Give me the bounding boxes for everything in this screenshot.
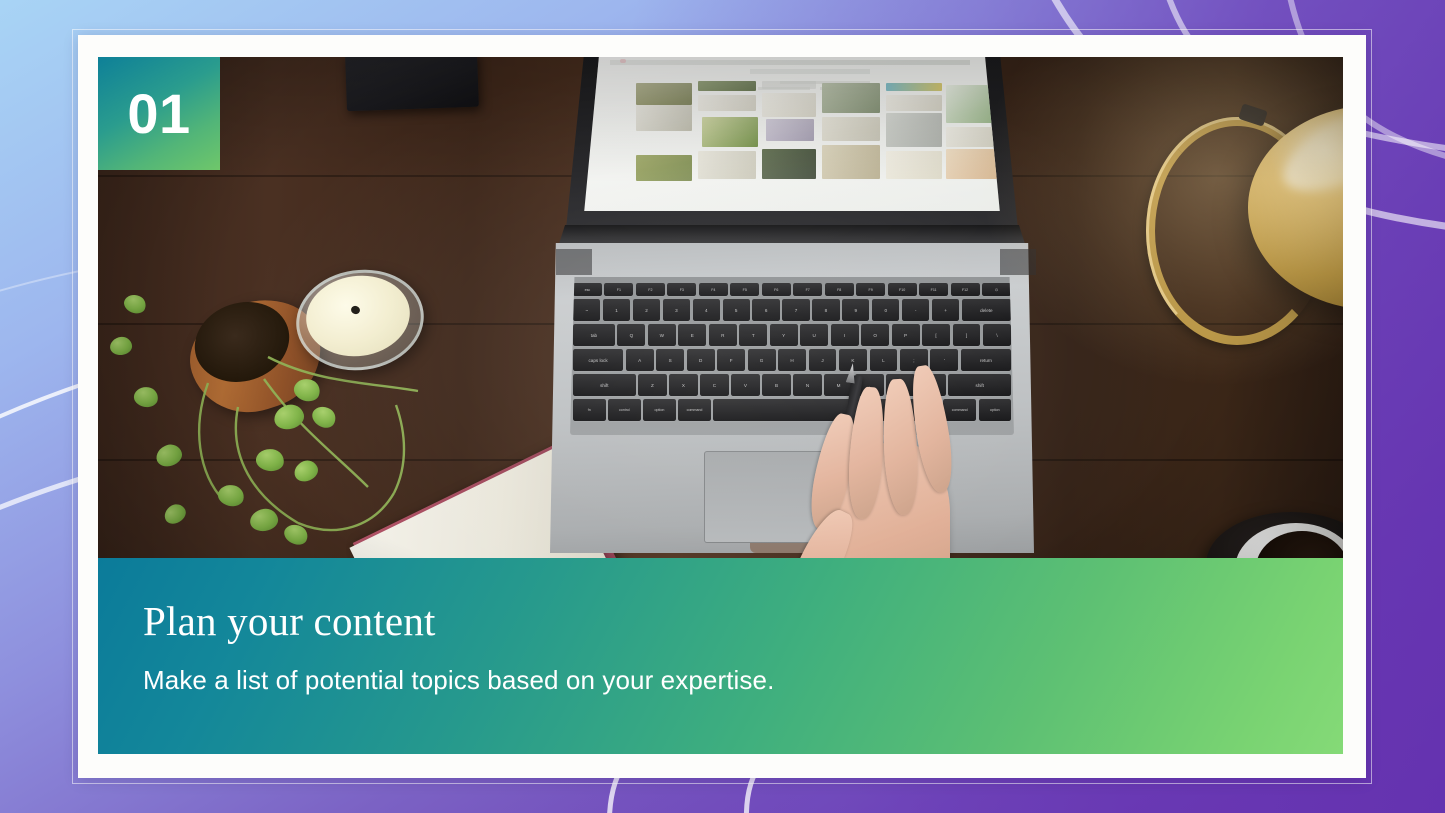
slide-number-text: 01	[127, 86, 190, 142]
slide-number-badge: 01	[98, 57, 220, 170]
slide-subtitle: Make a list of potential topics based on…	[143, 665, 1343, 696]
caption-bar: Plan your content Make a list of potenti…	[98, 558, 1343, 754]
desk-photo: escF1F2F3F4F5F6F7F8F9F10F11F12⏻ ~1234567…	[98, 57, 1343, 558]
photo-lighting-overlay	[98, 57, 1343, 558]
slide-content-area: escF1F2F3F4F5F6F7F8F9F10F11F12⏻ ~1234567…	[98, 57, 1343, 754]
slide-title: Plan your content	[143, 599, 1343, 643]
slide-canvas: escF1F2F3F4F5F6F7F8F9F10F11F12⏻ ~1234567…	[0, 0, 1445, 813]
